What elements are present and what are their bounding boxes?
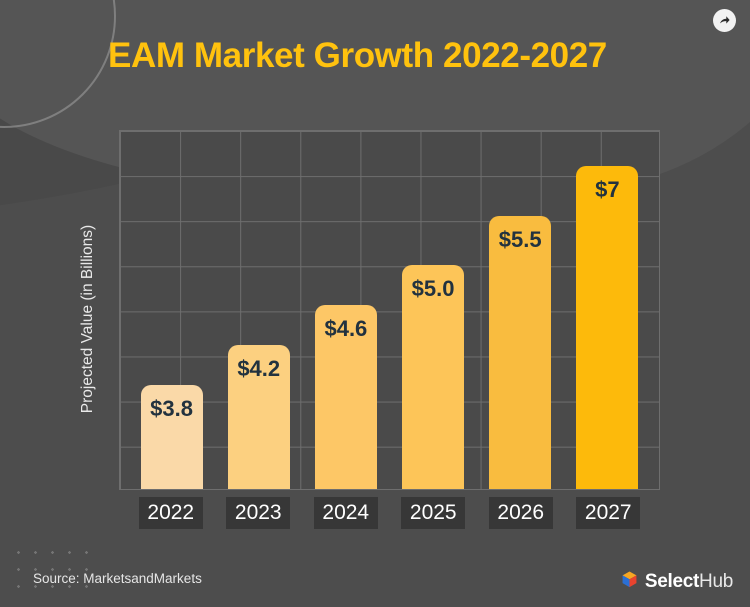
bar-value-label: $4.2 bbox=[237, 356, 280, 382]
bar-value-label: $5.0 bbox=[412, 276, 455, 302]
page-title: EAM Market Growth 2022-2027 bbox=[108, 36, 607, 76]
source-caption: Source: MarketsandMarkets bbox=[33, 571, 202, 586]
bar-value-label: $3.8 bbox=[150, 396, 193, 422]
bar-2027[interactable]: $7 bbox=[576, 166, 638, 489]
chart-plot-area: $3.8 $4.2 $4.6 $5.0 $5.5 $7 bbox=[119, 130, 660, 490]
bar-2023[interactable]: $4.2 bbox=[228, 345, 290, 489]
x-tick-2023: 2023 bbox=[226, 497, 290, 529]
logo-text-select: Select bbox=[645, 571, 699, 592]
x-tick-2022: 2022 bbox=[139, 497, 203, 529]
bar-2022[interactable]: $3.8 bbox=[141, 385, 203, 489]
x-tick-2025: 2025 bbox=[401, 497, 465, 529]
infographic-card: EAM Market Growth 2022-2027 Projected Va… bbox=[0, 0, 750, 607]
bar-2024[interactable]: $4.6 bbox=[315, 305, 377, 489]
background-ring-decoration bbox=[0, 0, 116, 128]
bar-2026[interactable]: $5.5 bbox=[489, 216, 551, 490]
bar-series: $3.8 $4.2 $4.6 $5.0 $5.5 $7 bbox=[120, 131, 659, 489]
selecthub-wordmark: SelectHub bbox=[645, 571, 733, 593]
selecthub-logo[interactable]: SelectHub bbox=[620, 570, 733, 594]
logo-text-hub: Hub bbox=[699, 571, 733, 592]
bar-value-label: $5.5 bbox=[499, 227, 542, 253]
x-tick-2027: 2027 bbox=[576, 497, 640, 529]
x-tick-2024: 2024 bbox=[314, 497, 378, 529]
bar-2025[interactable]: $5.0 bbox=[402, 265, 464, 489]
bar-value-label: $7 bbox=[595, 177, 619, 203]
background-dot-grid bbox=[10, 544, 96, 596]
bar-value-label: $4.6 bbox=[324, 316, 367, 342]
selecthub-cube-icon bbox=[620, 570, 639, 594]
x-axis-tick-labels: 2022 2023 2024 2025 2026 2027 bbox=[119, 497, 660, 529]
share-arrow-icon[interactable] bbox=[713, 9, 736, 32]
x-tick-2026: 2026 bbox=[489, 497, 553, 529]
y-axis-label: Projected Value (in Billions) bbox=[79, 169, 97, 469]
